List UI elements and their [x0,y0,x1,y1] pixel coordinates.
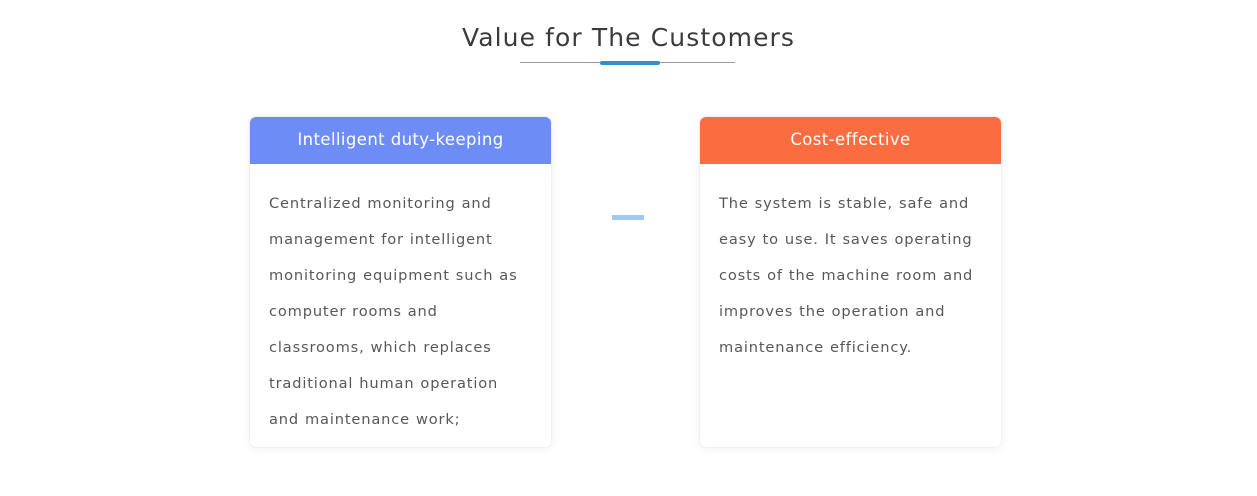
card-header-intelligent-duty-keeping: Intelligent duty-keeping [249,116,552,164]
value-card-cost-effective[interactable]: Cost-effective The system is stable, saf… [699,116,1002,448]
title-divider-accent [600,61,660,65]
value-card-intelligent-duty-keeping[interactable]: Intelligent duty-keeping Centralized mon… [249,116,552,448]
card-body-cost-effective: The system is stable, safe and easy to u… [700,164,1001,386]
card-header-cost-effective: Cost-effective [699,116,1002,164]
page-title: Value for The Customers [462,23,795,52]
card-connector-bar [612,215,644,220]
section-heading: Value for The Customers [0,18,1257,58]
title-divider [520,61,735,65]
card-body-intelligent-duty-keeping: Centralized monitoring and management fo… [250,164,551,448]
